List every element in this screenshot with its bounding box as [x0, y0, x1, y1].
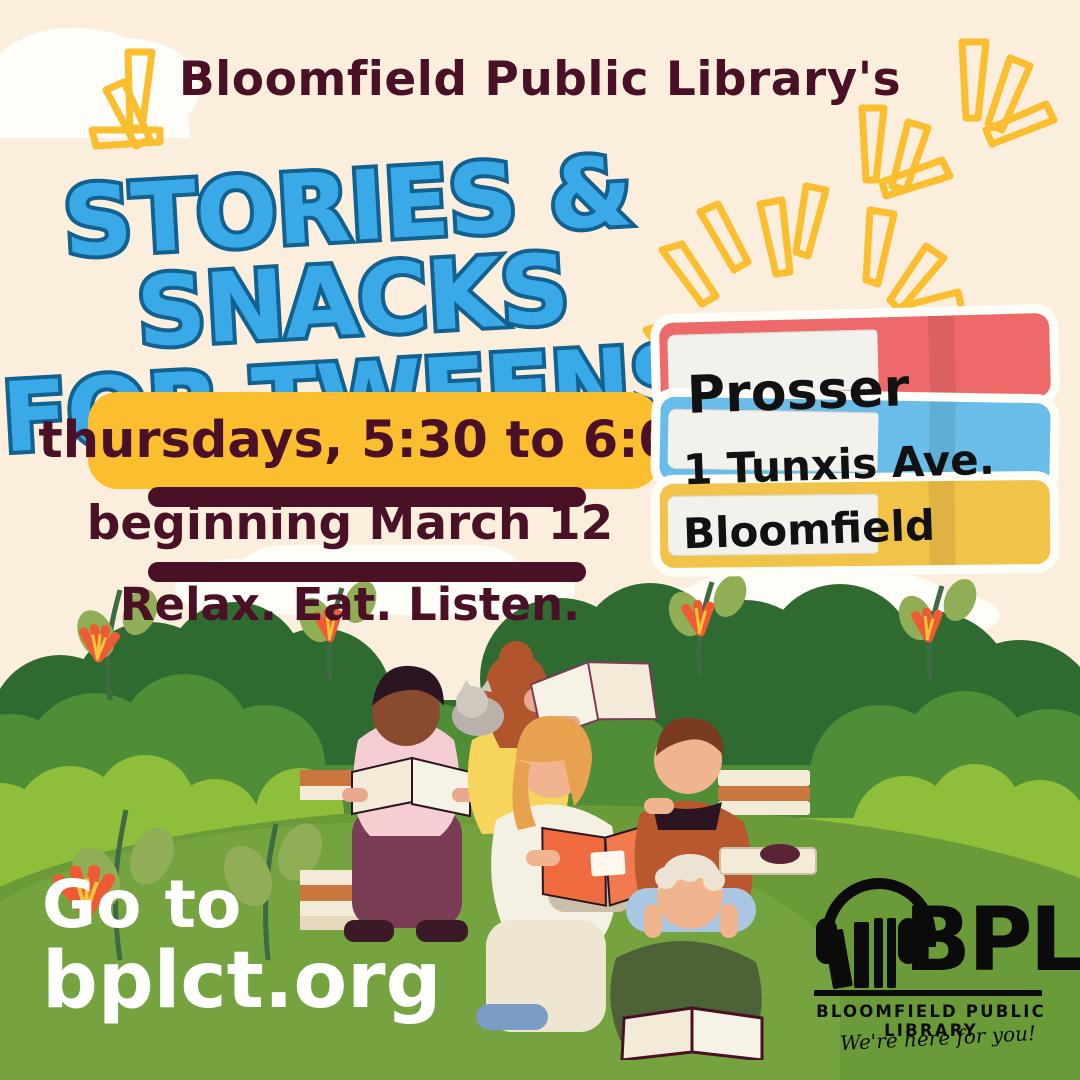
schedule-text: thursdays, 5:30 to 6:00 — [38, 411, 709, 470]
book-ground-right — [720, 844, 816, 874]
start-date-text: beginning March 12 — [0, 496, 700, 551]
location-city: Bloomfield — [682, 501, 936, 559]
cta-go-to-label: Go to — [42, 872, 241, 938]
books-icon — [887, 918, 896, 988]
page-title-kicker: Bloomfield Public Library's — [0, 52, 1080, 107]
tagline-text: Relax. Eat. Listen. — [0, 578, 700, 631]
location-venue: Prosser — [686, 358, 910, 426]
logo-divider — [814, 990, 1042, 996]
cta-url[interactable]: bplct.org — [42, 942, 441, 1020]
poster-canvas: Bloomfield Public Library's STORIES & SN… — [0, 0, 1080, 1080]
books-icon — [854, 922, 869, 988]
schedule-badge: thursdays, 5:30 to 6:00 — [88, 392, 660, 489]
books-icon — [874, 918, 883, 988]
logo-acronym: BPL — [904, 896, 1080, 984]
bpl-logo: BPL BLOOMFIELD PUBLIC LIBRARY We're here… — [812, 878, 1062, 1058]
book-pile-right — [718, 770, 810, 815]
book-spine-band — [928, 315, 956, 400]
